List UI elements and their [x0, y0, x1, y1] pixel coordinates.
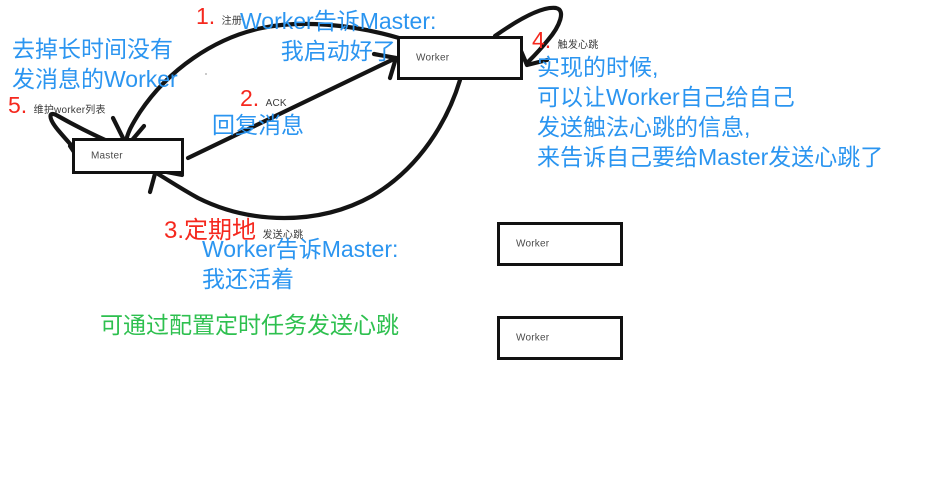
note-remove-stale-workers: 去掉长时间没有 发消息的Worker [12, 34, 178, 94]
note-register-message: Worker告诉Master: 我启动好了 [240, 6, 436, 66]
step-label-1: 1. 注册 [196, 3, 242, 30]
step-5-number: 5. [8, 92, 27, 118]
step-1-number: 1. [196, 3, 215, 29]
step-label-2: 2. ACK [240, 85, 287, 112]
node-worker-third[interactable]: Worker [497, 316, 623, 360]
arrow-heartbeat [150, 80, 460, 218]
note-heartbeat-message: Worker告诉Master: 我还活着 [202, 234, 398, 294]
step-2-caption: ACK [266, 98, 287, 109]
node-worker-third-label: Worker [516, 333, 549, 344]
step-5-caption: 维护worker列表 [34, 105, 106, 116]
node-worker-second-label: Worker [516, 239, 549, 250]
note-cron-heartbeat: 可通过配置定时任务发送心跳 [100, 310, 399, 340]
node-master[interactable]: Master [72, 138, 184, 174]
step-1-caption: 注册 [222, 16, 242, 27]
stray-dot-mark [205, 73, 207, 75]
step-4-caption: 触发心跳 [558, 40, 599, 51]
node-master-label: Master [91, 151, 123, 162]
step-2-number: 2. [240, 85, 259, 111]
note-ack-message: 回复消息 [212, 110, 304, 140]
step-4-number: 4. [532, 27, 551, 53]
arrow-ack [188, 54, 396, 158]
note-self-trigger-heartbeat: 实现的时候, 可以让Worker自己给自己 发送触法心跳的信息, 来告诉自己要给… [537, 52, 883, 172]
step-label-4: 4. 触发心跳 [532, 27, 598, 54]
diagram-canvas: Master Worker Worker Worker 1. 注册 2. ACK… [0, 0, 943, 494]
node-worker-second[interactable]: Worker [497, 222, 623, 266]
step-label-5: 5. 维护worker列表 [8, 92, 106, 119]
